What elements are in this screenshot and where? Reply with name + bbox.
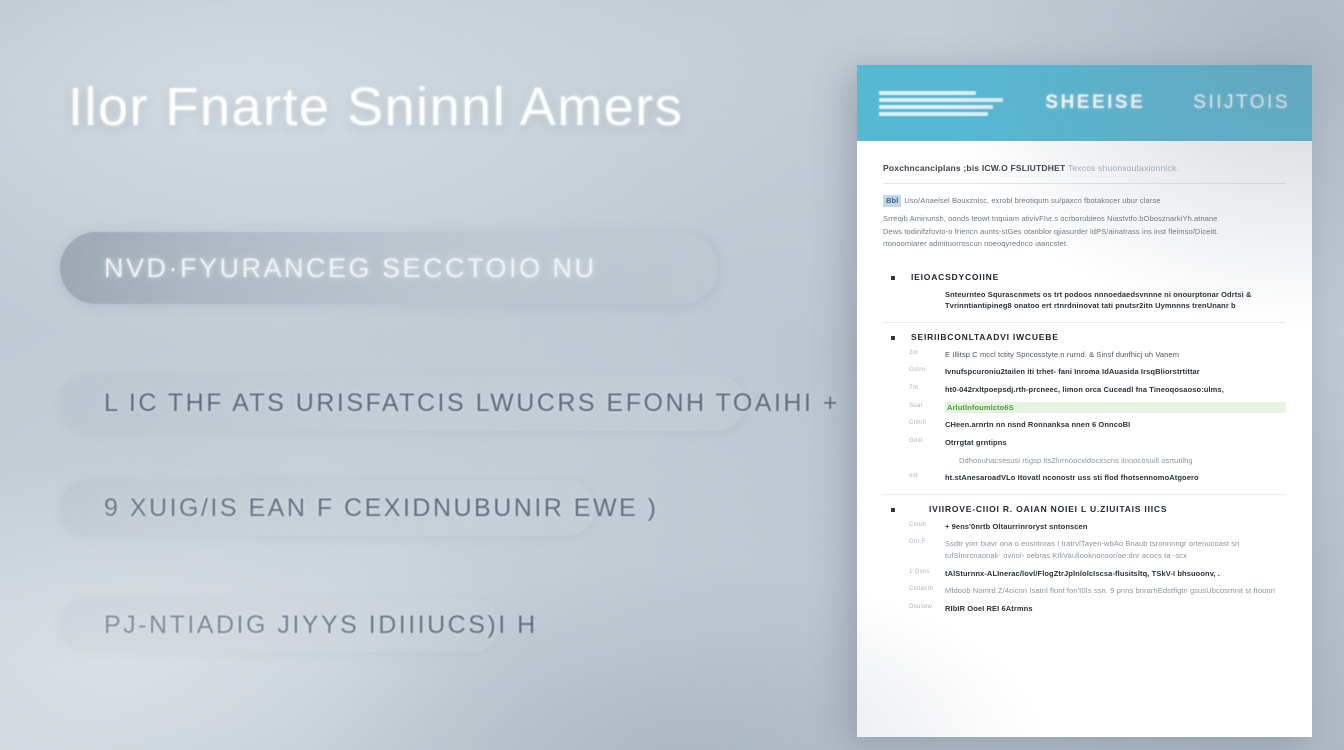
list-item-text: ht0-042rxltpoepsdj.rth-prcneec, limon or… xyxy=(945,384,1286,396)
document-intro-paragraph: Srreqib Aminunsh, oonds Ieowt tnquiam at… xyxy=(883,213,1286,250)
bullet-pill-1[interactable]: NVD·FYURANCEG SECCTOIO NU xyxy=(60,232,718,304)
meta-line xyxy=(879,91,976,95)
document-section: SEIRIIBCONLTAADVI IWCUEBE 2or E Illitsp … xyxy=(883,322,1286,494)
list-item: 2or E Illitsp C mccl tctity Spncosstyte.… xyxy=(883,349,1286,361)
section-header: SEIRIIBCONLTAADVI IWCUEBE xyxy=(883,332,1286,342)
bullet-pill-4[interactable]: PJ-NTIADIG JIYYS IDIIIUCS)I H xyxy=(60,598,500,652)
list-item: Gost Otrrgtat grntipns xyxy=(883,437,1286,449)
bullet-pill-2-label: L IC THF ATS URISFATCIS LWUCRS EFONH TOA… xyxy=(104,389,840,418)
list-item-marker: Gstrn xyxy=(909,366,935,373)
document-body: Poxchncanciplans ;bis ICW.O FSLIUTDHET T… xyxy=(857,141,1312,625)
meta-line xyxy=(879,112,988,116)
paragraph-line: rtonoomlarer admituorroscun noeoqyrednco… xyxy=(883,238,1286,250)
list-item-marker: Cnhifl xyxy=(909,419,935,426)
list-item-marker: Soar xyxy=(909,402,935,409)
list-item-text: tAlSturnnx-ALInerac/lovl/FlogZtrJplnlolc… xyxy=(945,568,1286,580)
list-item-marker: Dsusow xyxy=(909,603,935,610)
document-preview-card[interactable]: SHEEISE SIIJTOIS Poxchncanciplans ;bis I… xyxy=(857,65,1312,737)
list-item: Ddhoouhacsesusi rtigsp ltsZlirrnoocxldoc… xyxy=(883,455,1286,467)
list-item-text: Mfdoob Nomrd Z/4cicnn Isatnl flont fon'I… xyxy=(945,585,1286,597)
meta-line xyxy=(879,98,1003,102)
list-item: Ont.F Ssdtr yorr txavr ona o ensntnras I… xyxy=(883,538,1286,561)
page-title: Ilor Fnarte Sninnl Amers xyxy=(68,76,828,138)
document-section: IEIOACSDYCOIINE Snteurnteo Squrascnmets … xyxy=(883,263,1286,322)
bullet-pill-4-label: PJ-NTIADIG JIYYS IDIIIUCS)I H xyxy=(104,611,538,640)
document-note-text: Uso/Anaelsel Bouxznisc, exrobl breotiqum… xyxy=(904,196,1160,205)
list-item-text: Ivnufspcuroniu2tailen iti trhet- fani In… xyxy=(945,366,1286,378)
bullet-pill-3-label: 9 XUIG/IS EAN F CEXIDNUBUNIR EWE ) xyxy=(104,494,659,523)
note-tag-badge: Bbl xyxy=(883,195,901,207)
list-item-highlighted: Soar Arlutlnfoumlcto6S xyxy=(883,402,1286,414)
list-item-text: + 9ens'0nrtb Oltaurrinroryst sntonscen xyxy=(945,521,1286,533)
list-item-text: Snteurnteo Squrascnmets os trt podoos nn… xyxy=(945,289,1286,312)
divider xyxy=(883,183,1286,184)
document-header-subtitle: SIIJTOIS xyxy=(1193,92,1290,114)
list-item: ost ht.stAnesaroadVLo Itovatl nconostr u… xyxy=(883,472,1286,484)
paragraph-line: Srreqib Aminunsh, oonds Ieowt tnquiam at… xyxy=(883,213,1286,225)
list-item: Dsusow RIbIR OoeI REI 6Atrmns xyxy=(883,603,1286,615)
list-item-text: Ssdtr yorr txavr ona o ensntnras I tratr… xyxy=(945,538,1286,561)
list-item-marker: 2or xyxy=(909,349,935,356)
document-header-title: SHEEISE xyxy=(1045,92,1145,114)
list-item-text-highlight: Arlutlnfoumlcto6S xyxy=(945,402,1286,414)
document-section: IVIIROVE-CIIOI R. OAIAN NOIEI L U.ZIUITA… xyxy=(883,494,1286,625)
document-intro-heading-muted: Texcos shuonsoutaxionnick. xyxy=(1068,163,1179,173)
list-item-marker: ost xyxy=(909,472,935,479)
document-intro-heading-text: Poxchncanciplans ;bis ICW.O FSLIUTDHET xyxy=(883,163,1065,173)
bullet-pill-1-label: NVD·FYURANCEG SECCTOIO NU xyxy=(104,253,597,284)
list-item: Cinuh + 9ens'0nrtb Oltaurrinroryst snton… xyxy=(883,521,1286,533)
bullet-marker-icon xyxy=(891,336,895,340)
document-header: SHEEISE SIIJTOIS xyxy=(857,65,1312,141)
list-item-marker: Gost xyxy=(909,437,935,444)
list-item: Cnhifl CHeen.arnrtn nn nsnd Ronnanksa nn… xyxy=(883,419,1286,431)
list-item-marker: 1 Qsns xyxy=(909,568,935,575)
section-title: IVIIROVE-CIIOI R. OAIAN NOIEI L U.ZIUITA… xyxy=(929,504,1167,514)
meta-line xyxy=(879,105,993,109)
list-item: 1 Qsns tAlSturnnx-ALInerac/lovl/FlogZtrJ… xyxy=(883,568,1286,580)
list-item: 7nt ht0-042rxltpoepsdj.rth-prcneec, limo… xyxy=(883,384,1286,396)
list-item-text: Otrrgtat grntipns xyxy=(945,437,1286,449)
list-item: Gstrn Ivnufspcuroniu2tailen iti trhet- f… xyxy=(883,366,1286,378)
list-item: Snteurnteo Squrascnmets os trt podoos nn… xyxy=(883,289,1286,312)
section-header: IVIIROVE-CIIOI R. OAIAN NOIEI L U.ZIUITA… xyxy=(883,504,1286,514)
list-item-marker: Cistanth xyxy=(909,585,935,592)
list-item-text: E Illitsp C mccl tctity Spncosstyte.n ru… xyxy=(945,349,1286,361)
document-header-meta-lines xyxy=(879,91,1003,116)
list-item-text: RIbIR OoeI REI 6Atrmns xyxy=(945,603,1286,615)
section-title: IEIOACSDYCOIINE xyxy=(911,272,999,282)
list-item-marker: Ont.F xyxy=(909,538,935,545)
bullet-pill-2[interactable]: L IC THF ATS URISFATCIS LWUCRS EFONH TOA… xyxy=(60,375,745,431)
list-item-text: ht.stAnesaroadVLo Itovatl nconostr uss s… xyxy=(945,472,1286,484)
document-note: BblUso/Anaelsel Bouxznisc, exrobl breoti… xyxy=(883,195,1286,207)
list-item-text: Ddhoouhacsesusi rtigsp ltsZlirrnoocxldoc… xyxy=(959,455,1286,467)
list-item-marker: Cinuh xyxy=(909,521,935,528)
list-item-text: CHeen.arnrtn nn nsnd Ronnanksa nnen 6 On… xyxy=(945,419,1286,431)
section-header: IEIOACSDYCOIINE xyxy=(883,272,1286,282)
list-item-marker xyxy=(909,289,935,290)
list-item-marker: 7nt xyxy=(909,384,935,391)
list-item: Cistanth Mfdoob Nomrd Z/4cicnn Isatnl fl… xyxy=(883,585,1286,597)
document-intro-heading: Poxchncanciplans ;bis ICW.O FSLIUTDHET T… xyxy=(883,163,1286,173)
list-item-marker xyxy=(923,455,949,456)
section-title: SEIRIIBCONLTAADVI IWCUEBE xyxy=(911,332,1059,342)
paragraph-line: Dews todinlfzfovto-o friencn aunts-stGes… xyxy=(883,226,1286,238)
slide-canvas: Ilor Fnarte Sninnl Amers NVD·FYURANCEG S… xyxy=(0,0,1344,750)
bullet-pill-3[interactable]: 9 XUIG/IS EAN F CEXIDNUBUNIR EWE ) xyxy=(60,480,595,536)
bullet-marker-icon xyxy=(891,508,895,512)
bullet-marker-icon xyxy=(891,276,895,280)
